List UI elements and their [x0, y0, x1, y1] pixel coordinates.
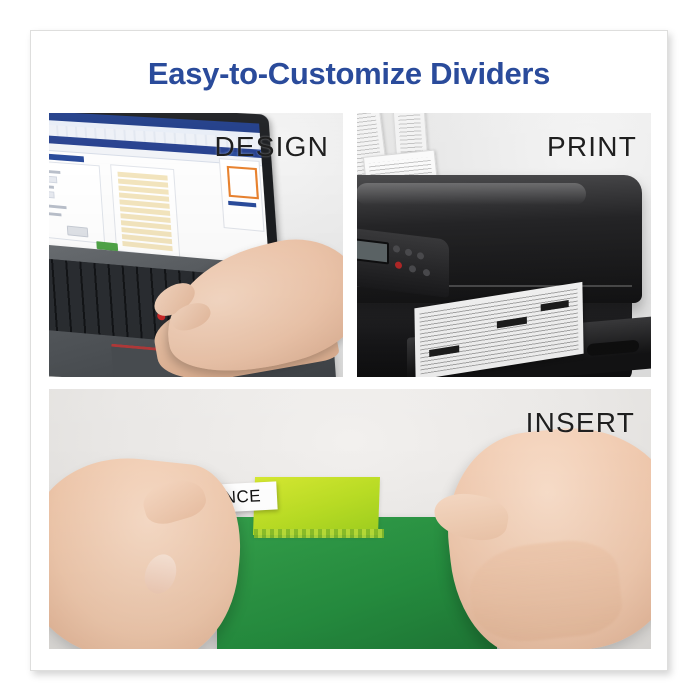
product-card: Easy-to-Customize Dividers	[30, 30, 668, 671]
form-label	[49, 184, 54, 189]
printer-lid-highlight	[357, 183, 586, 205]
template-cells	[117, 171, 172, 252]
printer-button[interactable]	[423, 269, 430, 277]
printer-power-button[interactable]	[395, 261, 402, 269]
preview-thumbnail	[227, 166, 259, 199]
printer-lcd-display	[357, 238, 389, 265]
printed-tab-block	[497, 317, 527, 329]
form-label	[49, 169, 60, 174]
divider-tab-pocket	[254, 529, 384, 538]
form-field	[49, 175, 57, 184]
screen-form-panel	[49, 160, 105, 244]
panel-print: PRINT	[357, 113, 651, 377]
printed-tab-block	[541, 300, 569, 311]
panel-design: DESIGN	[49, 113, 343, 377]
screen-preview-panel	[219, 158, 265, 232]
form-label	[49, 211, 62, 216]
screen-panel-header	[49, 152, 84, 162]
preview-footer	[228, 201, 256, 208]
form-cancel-button[interactable]	[67, 226, 89, 238]
laptop-illustration	[49, 113, 343, 377]
printer-button[interactable]	[393, 245, 400, 253]
panel-insert: FINANCE INSERT	[49, 389, 651, 649]
printed-tab-block	[429, 345, 459, 357]
fingers	[466, 536, 625, 647]
tray-grip[interactable]	[587, 340, 639, 357]
thumb	[139, 473, 210, 529]
printer-button[interactable]	[409, 265, 416, 273]
printer-button[interactable]	[405, 248, 412, 256]
screen-template-grid	[110, 164, 180, 258]
printer-button[interactable]	[417, 252, 424, 260]
product-feature-image: Easy-to-Customize Dividers	[0, 0, 700, 700]
form-field	[49, 190, 55, 199]
fingernail	[140, 550, 182, 598]
form-label	[49, 203, 67, 209]
panel-grid: DESIGN	[31, 31, 667, 670]
